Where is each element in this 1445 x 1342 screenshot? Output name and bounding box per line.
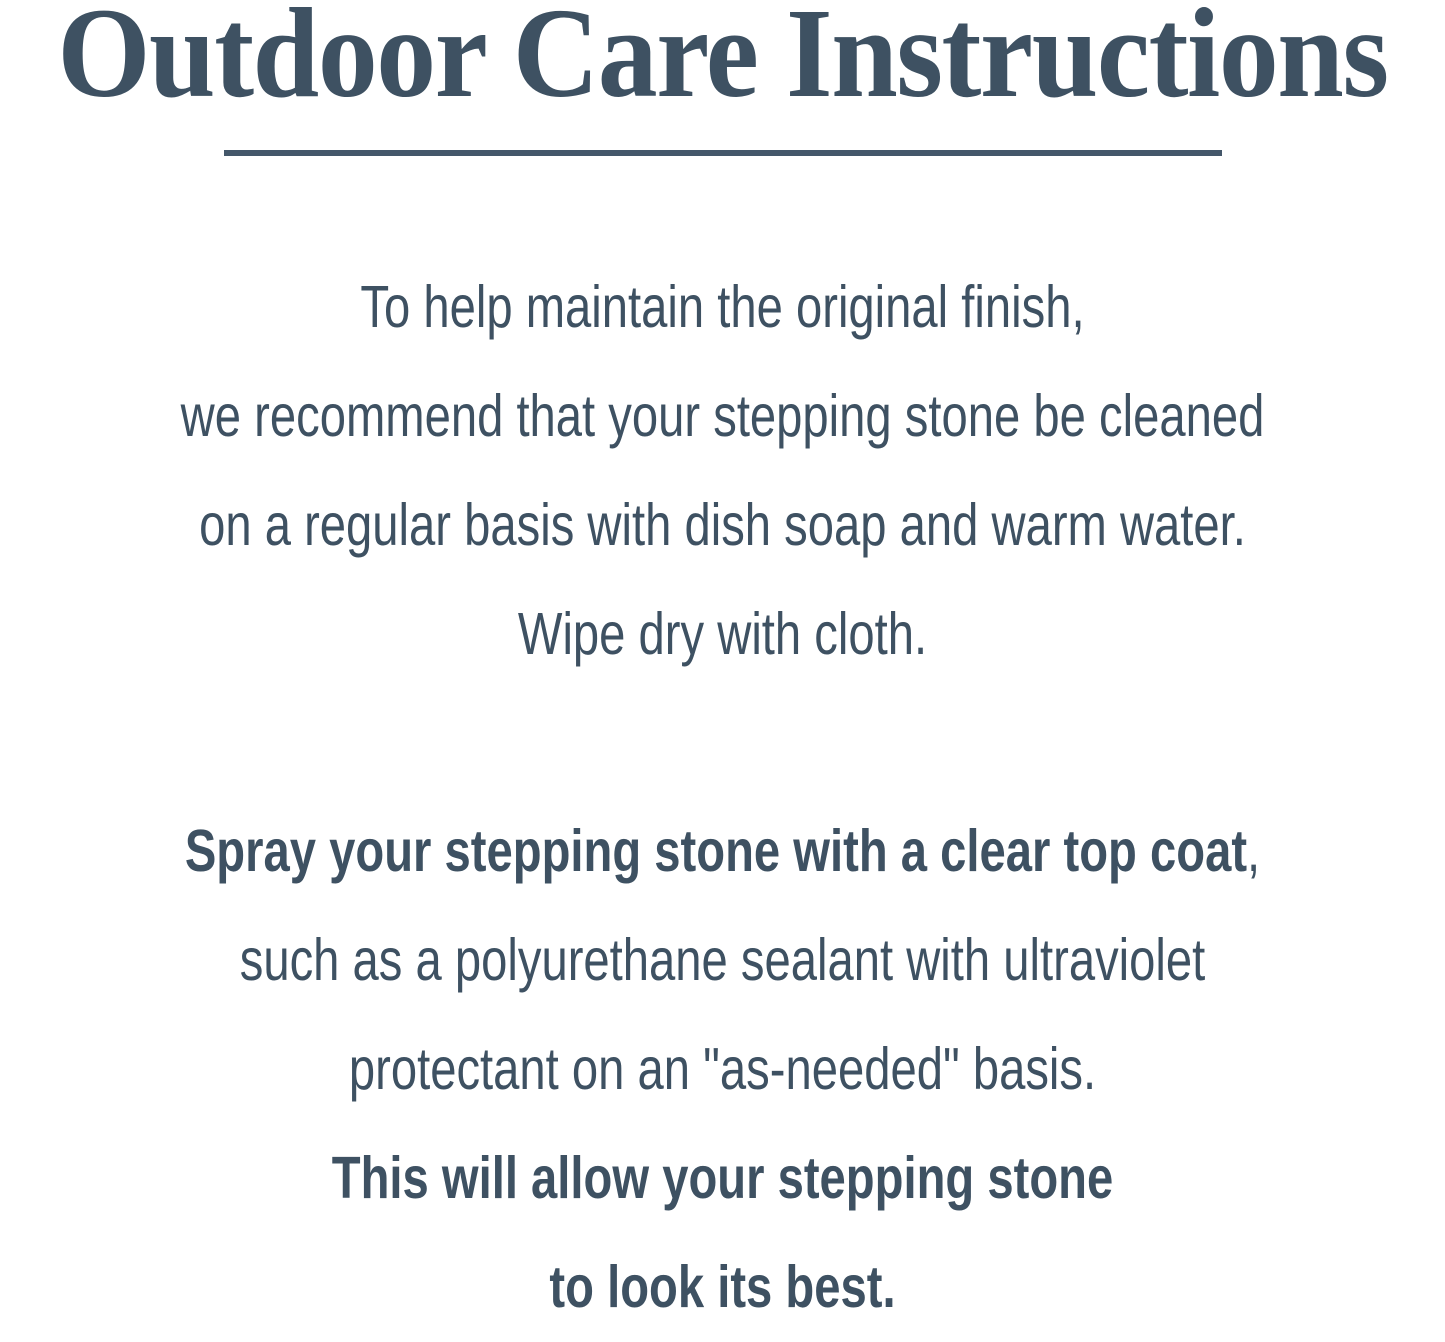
paragraph-line: on a regular basis with dish soap and wa… (145, 471, 1301, 580)
title-block: Outdoor Care Instructions (0, 0, 1445, 120)
title-divider (224, 150, 1222, 156)
page-title: Outdoor Care Instructions (47, 0, 1398, 120)
paragraph-line: protectant on an "as-needed" basis. (145, 1015, 1301, 1124)
title-divider-wrapper (0, 150, 1445, 156)
body-block: To help maintain the original finish, we… (0, 253, 1445, 1342)
paragraph-line-trailing-punctuation: , (1247, 818, 1260, 884)
paragraph-line: such as a polyurethane sealant with ultr… (145, 906, 1301, 1015)
paragraph-line-emphasis: This will allow your stepping stone (145, 1124, 1301, 1233)
paragraph-spacer (0, 689, 1445, 797)
paragraph-cleaning-instructions: To help maintain the original finish, we… (0, 253, 1445, 689)
care-instructions-page: Outdoor Care Instructions To help mainta… (0, 0, 1445, 1304)
paragraph-line-emphasis: to look its best. (145, 1233, 1301, 1342)
paragraph-line: Wipe dry with cloth. (145, 580, 1301, 689)
paragraph-line: we recommend that your stepping stone be… (145, 362, 1301, 471)
paragraph-line: To help maintain the original finish, (145, 253, 1301, 362)
paragraph-line-emphasis: Spray your stepping stone with a clear t… (145, 797, 1301, 906)
paragraph-sealant-instructions: Spray your stepping stone with a clear t… (0, 797, 1445, 1342)
paragraph-line-text: Spray your stepping stone with a clear t… (185, 818, 1247, 884)
